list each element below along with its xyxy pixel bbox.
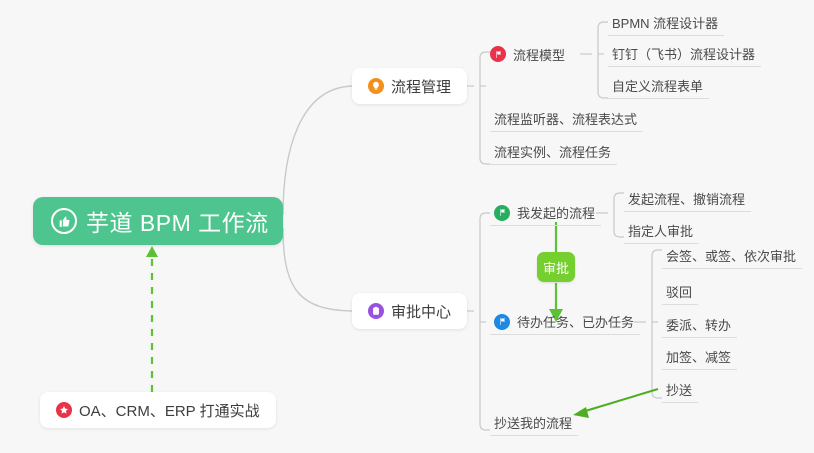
mindmap-canvas: 芋道 BPM 工作流 流程管理 流程模型 BPMN 流程设计器 钉钉（飞书）流程…	[0, 0, 814, 453]
node-label: 我发起的流程	[517, 203, 595, 222]
leaf-label: 委派、转办	[666, 315, 731, 334]
leaf-start-cancel-process[interactable]: 发起流程、撤销流程	[624, 186, 751, 212]
leaf-label: 抄送我的流程	[494, 413, 572, 432]
leaf-label: 流程实例、流程任务	[494, 142, 611, 161]
leaf-add-remove-sign[interactable]: 加签、减签	[662, 344, 737, 370]
branch-label: 审批中心	[391, 301, 451, 322]
leaf-designated-approver[interactable]: 指定人审批	[624, 218, 699, 244]
leaf-cc-to-me-process[interactable]: 抄送我的流程	[490, 410, 578, 436]
floating-node-oa-crm-erp[interactable]: OA、CRM、ERP 打通实战	[40, 392, 276, 428]
root-node[interactable]: 芋道 BPM 工作流	[33, 197, 283, 245]
leaf-label: 自定义流程表单	[612, 76, 703, 95]
approval-badge[interactable]: 审批	[537, 252, 575, 282]
branch-process-management[interactable]: 流程管理	[352, 68, 467, 104]
leaf-label: 发起流程、撤销流程	[628, 189, 745, 208]
leaf-process-instance-task[interactable]: 流程实例、流程任务	[490, 139, 617, 165]
leaf-carbon-copy[interactable]: 抄送	[662, 377, 698, 403]
blue-flag-icon	[494, 314, 510, 330]
leaf-custom-process-form[interactable]: 自定义流程表单	[608, 73, 709, 99]
green-flag-icon	[494, 205, 510, 221]
leaf-process-listener-expression[interactable]: 流程监听器、流程表达式	[490, 106, 643, 132]
thumbs-up-icon	[51, 208, 77, 234]
leaf-reject[interactable]: 驳回	[662, 279, 698, 305]
leaf-label: 驳回	[666, 282, 692, 301]
node-todo-done-tasks[interactable]: 待办任务、已办任务	[490, 309, 640, 335]
leaf-label: 流程监听器、流程表达式	[494, 109, 637, 128]
badge-label: 审批	[543, 258, 569, 277]
leaf-bpmn-designer[interactable]: BPMN 流程设计器	[608, 10, 724, 36]
leaf-label: 钉钉（飞书）流程设计器	[612, 44, 755, 63]
leaf-delegate-transfer[interactable]: 委派、转办	[662, 312, 737, 338]
star-icon	[56, 402, 72, 418]
node-process-model[interactable]: 流程模型	[490, 41, 565, 67]
leaf-label: 抄送	[666, 380, 692, 399]
lightbulb-icon	[368, 78, 384, 94]
branch-approval-center[interactable]: 审批中心	[352, 293, 467, 329]
root-label: 芋道 BPM 工作流	[86, 204, 269, 238]
floating-node-label: OA、CRM、ERP 打通实战	[79, 400, 260, 421]
red-flag-icon	[490, 46, 506, 62]
clipboard-icon	[368, 303, 384, 319]
leaf-label: 加签、减签	[666, 347, 731, 366]
leaf-label: BPMN 流程设计器	[612, 13, 718, 32]
leaf-dingtalk-feishu-designer[interactable]: 钉钉（飞书）流程设计器	[608, 41, 761, 67]
leaf-label: 指定人审批	[628, 221, 693, 240]
node-label: 流程模型	[513, 45, 565, 64]
leaf-countersign-orsign-sequential[interactable]: 会签、或签、依次审批	[662, 243, 802, 269]
node-label: 待办任务、已办任务	[517, 312, 634, 331]
node-my-initiated-process[interactable]: 我发起的流程	[490, 200, 601, 226]
leaf-label: 会签、或签、依次审批	[666, 246, 796, 265]
branch-label: 流程管理	[391, 76, 451, 97]
